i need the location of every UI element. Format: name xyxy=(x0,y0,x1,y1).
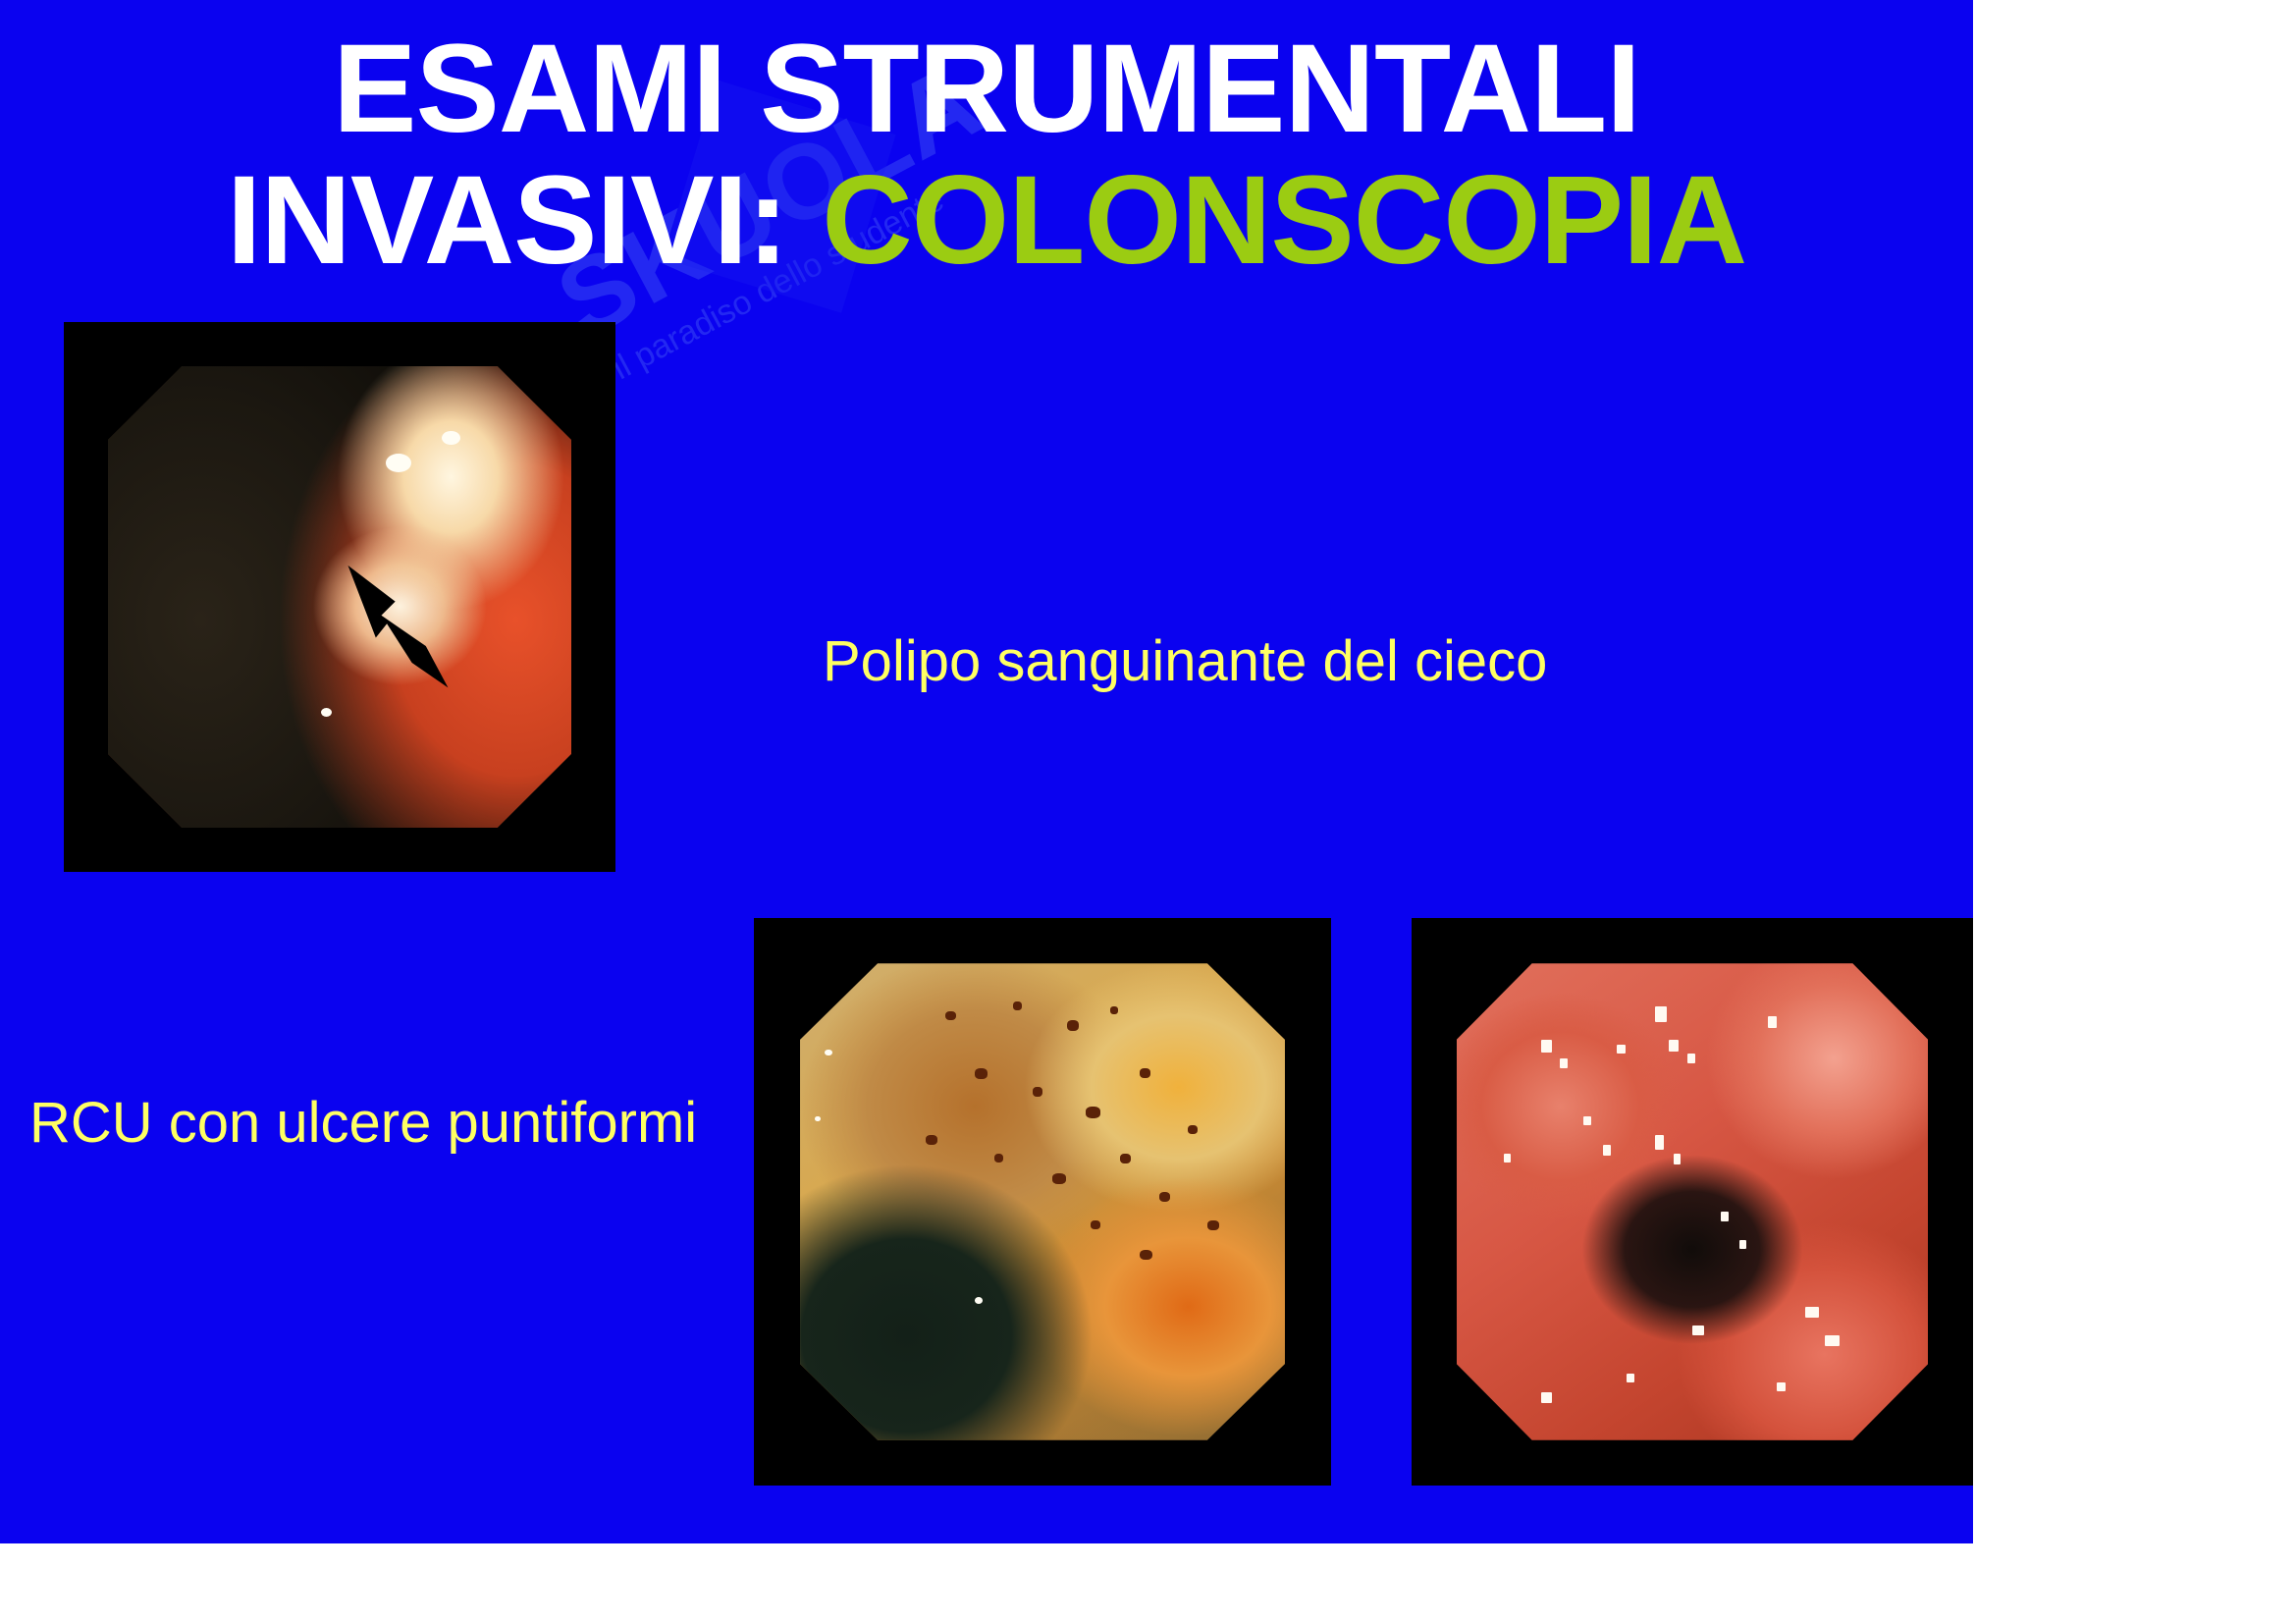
endoscope-field-of-view xyxy=(800,963,1285,1440)
specular-highlight xyxy=(1669,1040,1679,1052)
annotation-arrow-icon xyxy=(340,551,479,708)
specular-highlight xyxy=(321,708,332,717)
ulcer-speck xyxy=(1188,1125,1198,1134)
title-line-2-white: INVASIVI: xyxy=(227,150,822,291)
specular-highlight xyxy=(386,454,411,472)
ulcer-speck xyxy=(926,1135,937,1145)
specular-highlight xyxy=(1777,1382,1786,1391)
specular-highlight xyxy=(1504,1154,1511,1163)
ulcer-speck xyxy=(1120,1154,1131,1163)
slide-title: ESAMI STRUMENTALI INVASIVI: COLONSCOPIA xyxy=(0,24,1973,288)
specular-highlight xyxy=(1825,1335,1840,1346)
specular-highlight xyxy=(442,431,460,445)
ulcer-speck xyxy=(1086,1107,1100,1118)
specular-highlight xyxy=(1603,1145,1612,1157)
specular-highlight xyxy=(1739,1240,1746,1249)
title-line-1: ESAMI STRUMENTALI xyxy=(0,24,1973,155)
ulcer-speck xyxy=(1140,1250,1152,1261)
specular-highlight xyxy=(815,1116,821,1122)
ulcer-speck xyxy=(994,1154,1004,1163)
specular-highlight xyxy=(1583,1116,1591,1126)
ulcer-speck xyxy=(1013,1001,1022,1010)
specular-highlight xyxy=(1721,1212,1729,1222)
endoscopy-image-bleeding-polyp xyxy=(64,322,615,872)
title-line-2-green: COLONSCOPIA xyxy=(822,150,1746,291)
specular-highlight xyxy=(1560,1058,1568,1068)
endoscope-field-of-view xyxy=(1457,963,1928,1440)
caption-punctate-ulcers: RCU con ulcere puntiformi xyxy=(29,1090,697,1156)
specular-highlight xyxy=(825,1050,832,1056)
title-line-2: INVASIVI: COLONSCOPIA xyxy=(0,155,1973,287)
endoscope-field-of-view xyxy=(108,366,571,828)
endoscopy-image-inflamed-mucosa xyxy=(1412,918,1973,1486)
ulcer-speck xyxy=(1159,1192,1171,1202)
specular-highlight xyxy=(1674,1154,1682,1164)
specular-highlight xyxy=(1805,1307,1818,1319)
specular-highlight xyxy=(1541,1392,1552,1403)
ulcer-speck xyxy=(1091,1220,1100,1229)
specular-highlight xyxy=(1617,1045,1626,1055)
ulcer-speck xyxy=(1067,1020,1079,1031)
ulcer-speck xyxy=(945,1011,956,1021)
ulcer-speck xyxy=(1110,1006,1118,1014)
ulcer-speck xyxy=(1052,1173,1066,1184)
ulcer-speck xyxy=(1207,1220,1219,1230)
specular-highlight xyxy=(1655,1135,1665,1150)
ulcer-speck xyxy=(975,1068,988,1079)
ulcer-speck xyxy=(1033,1087,1042,1097)
specular-highlight xyxy=(1541,1040,1552,1053)
specular-highlight xyxy=(1687,1054,1695,1063)
specular-highlight xyxy=(1627,1374,1635,1383)
specular-highlight xyxy=(975,1297,983,1304)
specular-highlight xyxy=(1768,1016,1777,1029)
ulcer-speck xyxy=(1140,1068,1150,1078)
caption-bleeding-polyp: Polipo sanguinante del cieco xyxy=(823,628,1547,694)
slide-page: SKUOLA il paradiso dello studente ESAMI … xyxy=(0,0,2296,1623)
specular-highlight xyxy=(1692,1325,1704,1335)
specular-highlight xyxy=(1655,1006,1667,1023)
endoscopy-image-punctate-ulcers xyxy=(754,918,1331,1486)
